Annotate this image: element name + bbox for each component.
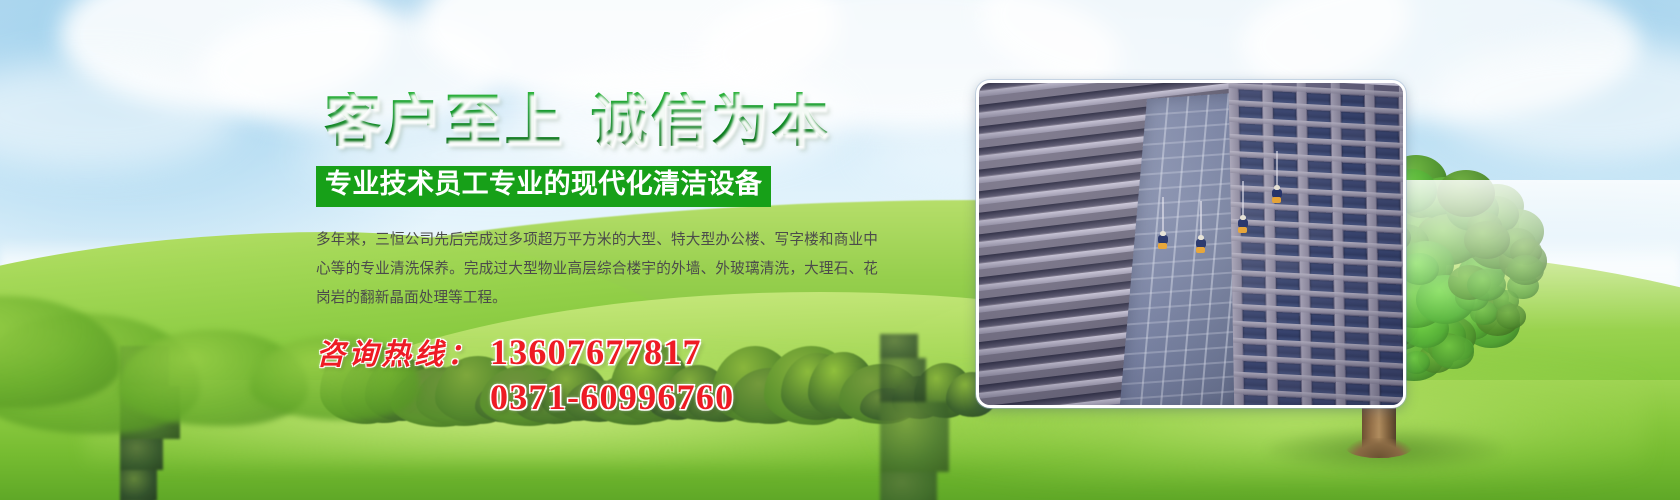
headline-part-1: 客户至上 [324,90,565,153]
subtitle-bar-label: 专业技术员工专业的现代化清洁设备 [325,170,762,200]
tree-foliage-blob [1437,170,1495,217]
subtitle-bar: 专业技术员工专业的现代化清洁设备 [316,166,771,206]
headline-part-2: 诚信为本 [591,90,832,153]
tree-foliage-blob [1496,304,1526,328]
foliage-blob [880,472,937,500]
tree-foliage-blob [1507,255,1544,285]
photo-vignette [979,83,1403,405]
hotline-row-mobile: 咨询热线： 13607677817 [316,331,916,373]
hotline-block: 咨询热线： 13607677817 0371-60996760 [316,331,916,418]
hotline-label: 咨询热线： [316,331,480,373]
hotline-row-landline: 0371-60996760 [316,376,916,418]
banner-content: 客户至上诚信为本 专业技术员工专业的现代化清洁设备 多年来，三恒公司先后完成过多… [316,92,916,418]
page-title: 客户至上诚信为本 [316,92,916,151]
building-photo [979,83,1403,405]
building-photo-card[interactable] [976,80,1406,408]
tree-foliage-blob [1464,221,1510,259]
hotline-landline-number[interactable]: 0371-60996760 [490,376,734,418]
foliage-blob [120,439,163,470]
promo-banner: 客户至上诚信为本 专业技术员工专业的现代化清洁设备 多年来，三恒公司先后完成过多… [0,0,1680,500]
tree-foliage-blob [1403,351,1431,374]
company-description: 多年来，三恒公司先后完成过多项超万平方米的大型、特大型办公楼、写字楼和商业中心等… [316,225,878,313]
hotline-mobile-number[interactable]: 13607677817 [490,331,702,373]
foliage-blob [120,470,157,500]
